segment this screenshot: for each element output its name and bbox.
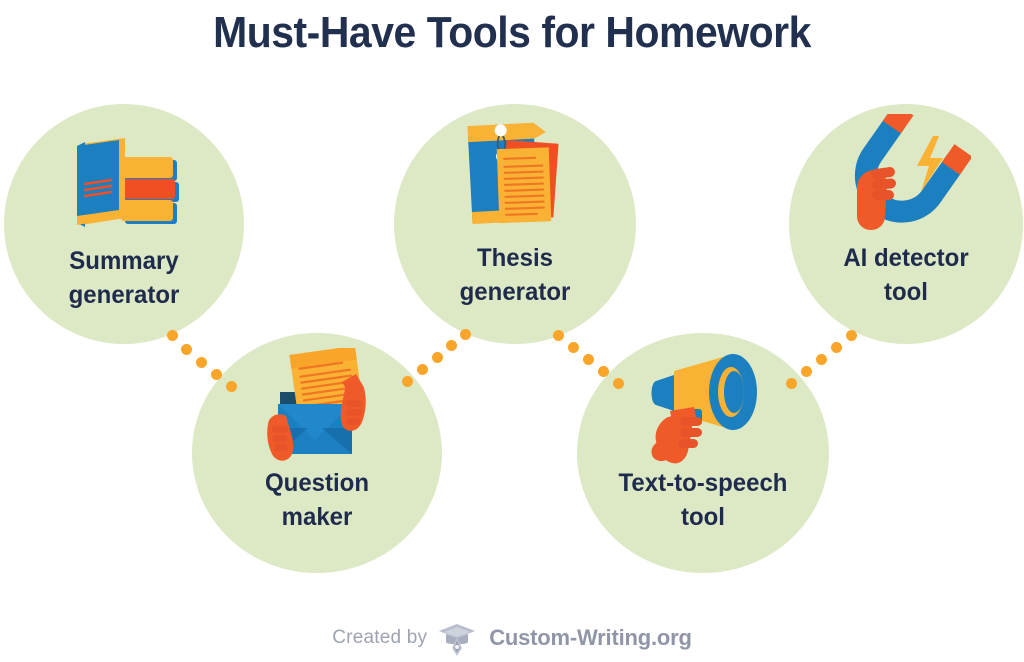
node-thesis-generator[interactable]: Thesis generator — [394, 104, 636, 344]
node-summary-generator[interactable]: Summary generator — [4, 104, 244, 344]
page-title: Must-Have Tools for Homework — [36, 8, 988, 58]
footer-credit: Created by Custom-Writing.org — [0, 618, 1024, 658]
connector-dot — [196, 357, 207, 368]
connector-dot — [846, 330, 857, 341]
magnet-hand-icon — [789, 114, 1023, 234]
connector-dot — [801, 366, 812, 377]
connector-dot — [460, 329, 471, 340]
node-question-maker[interactable]: Question maker — [192, 333, 442, 573]
connector-dot — [211, 369, 222, 380]
connector-dot — [167, 330, 178, 341]
node-text-to-speech-tool[interactable]: Text-to-speech tool — [577, 333, 829, 573]
footer-brand-label: Custom-Writing.org — [489, 625, 692, 651]
node-thesis-generator-label: Thesis generator — [399, 241, 631, 309]
connector-dot — [831, 342, 842, 353]
connector-dot — [583, 354, 594, 365]
connector-dot — [553, 330, 564, 341]
megaphone-hand-icon — [577, 351, 829, 466]
books-icon — [4, 132, 244, 232]
connector-dot — [226, 381, 237, 392]
connector-dot — [432, 352, 443, 363]
connector-dot — [568, 342, 579, 353]
envelope-letter-hands-icon — [192, 348, 442, 463]
connector-dot — [181, 344, 192, 355]
connector-dot — [417, 364, 428, 375]
connector-dot — [613, 378, 624, 389]
connector-dot — [598, 366, 609, 377]
connector-dot — [816, 354, 827, 365]
node-question-maker-label: Question maker — [197, 466, 437, 534]
connector-dot — [402, 376, 413, 387]
node-text-to-speech-tool-label: Text-to-speech tool — [582, 466, 824, 534]
node-ai-detector-tool[interactable]: AI detector tool — [789, 104, 1023, 344]
node-summary-generator-label: Summary generator — [9, 244, 239, 312]
document-folder-icon — [394, 114, 636, 234]
graduation-cap-pen-logo-icon — [437, 618, 477, 658]
connector-dot — [786, 378, 797, 389]
node-ai-detector-tool-label: AI detector tool — [794, 241, 1019, 309]
connector-dot — [446, 340, 457, 351]
footer-created-by-label: Created by — [332, 627, 427, 649]
